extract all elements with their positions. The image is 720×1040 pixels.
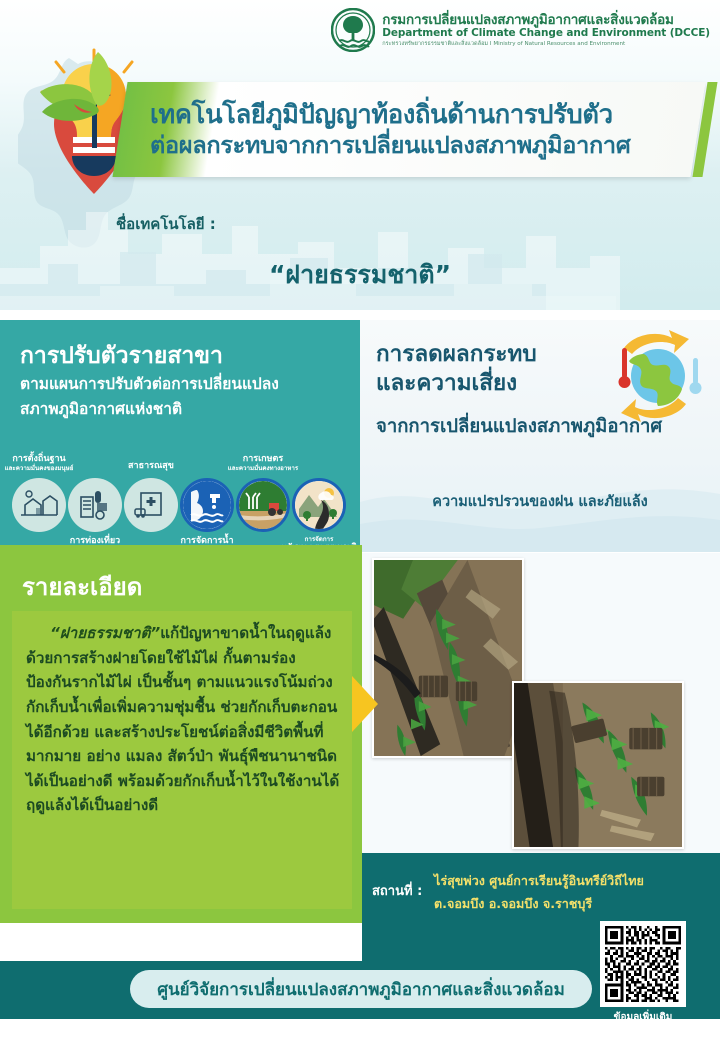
footer-organization: ศูนย์วิจัยการเปลี่ยนแปลงสภาพภูมิอากาศและ… (130, 970, 592, 1008)
mitigation-heading-line-2: และความเสี่ยง (376, 369, 537, 398)
org-ministry: กระทรวงทรัพยากรธรรมชาติและสิ่งแวดล้อม I … (382, 41, 710, 47)
sector-item-agriculture[interactable]: การเกษตร และความมั่นคงทางอาหาร (236, 478, 292, 532)
detail-body-text: แก้ปัญหาขาดน้ำในฤดูแล้ง ด้วยการสร้างฝายโ… (26, 624, 339, 814)
village-icon (12, 478, 66, 532)
sector-caption-public-health: สาธารณสุข (91, 461, 211, 472)
detail-panel: รายละเอียด “ฝายธรรมชาติ”แก้ปัญหาขาดน้ำใน… (0, 553, 362, 923)
hospital-icon (124, 478, 178, 532)
city-travel-icon (68, 478, 122, 532)
mountain-river-icon (292, 478, 346, 532)
farm-tractor-icon (236, 478, 290, 532)
location-line-1: ไร่สุขพ่วง ศูนย์การเรียนรู้อินทรีย์วิถีไ… (434, 869, 659, 892)
detail-body: “ฝายธรรมชาติ”แก้ปัญหาขาดน้ำในฤดูแล้ง ด้ว… (12, 611, 352, 909)
technology-name-value: “ฝายธรรมชาติ” (0, 255, 720, 295)
sector-item-water-management[interactable]: การจัดการน้ำ (180, 478, 236, 532)
photo-bamboo-check-dam-1 (372, 558, 524, 758)
title-line-2: ต่อผลกระทบจากการเปลี่ยนแปลงสภาพภูมิอากาศ (150, 131, 690, 160)
sector-item-settlement[interactable]: การตั้งถิ่นฐาน และความมั่นคงของมนุษย์ (12, 478, 68, 532)
title-line-1: เทคโนโลยีภูมิปัญญาท้องถิ่นด้านการปรับตัว (150, 100, 690, 131)
mitigation-heading-line-1: การลดผลกระทบ (376, 340, 537, 369)
location-line-2: ต.จอมบึง อ.จอมบึง จ.ราชบุรี (434, 892, 659, 915)
poster-root: กรมการเปลี่ยนแปลงสภาพภูมิอากาศและสิ่งแวด… (0, 0, 720, 1040)
qr-caption: ข้อมูลเพิ่มเติม (600, 1010, 686, 1025)
org-name-en: Department of Climate Change and Environ… (382, 28, 710, 40)
photo-bamboo-check-dam-2 (512, 681, 684, 849)
location-value: ไร่สุขพ่วง ศูนย์การเรียนรู้อินทรีย์วิถีไ… (434, 869, 659, 916)
detail-title: รายละเอียด (22, 567, 142, 606)
org-name-th: กรมการเปลี่ยนแปลงสภาพภูมิอากาศและสิ่งแวด… (382, 13, 710, 28)
sector-item-natural-resources[interactable]: การจัดการ ทรัพยากรธรรมชาติ (292, 478, 348, 532)
poster-header: กรมการเปลี่ยนแปลงสภาพภูมิอากาศและสิ่งแวด… (0, 0, 720, 310)
sector-caption-agriculture: การเกษตร และความมั่นคงทางอาหาร (203, 454, 323, 472)
sector-caption-settlement: การตั้งถิ่นฐาน และความมั่นคงของมนุษย์ (0, 454, 99, 472)
sector-icon-row: การตั้งถิ่นฐาน และความมั่นคงของมนุษย์ (6, 460, 358, 546)
adaptation-heading: การปรับตัวรายสาขา (20, 338, 223, 374)
qr-code-icon[interactable] (600, 921, 686, 1007)
location-label: สถานที่ : (372, 880, 422, 901)
detail-highlight: “ฝายธรรมชาติ” (50, 624, 160, 642)
mitigation-subheading: จากการเปลี่ยนแปลงสภาพภูมิอากาศ (376, 412, 706, 441)
red-thermometer (619, 348, 631, 388)
technology-name-label: ชื่อเทคโนโลยี : (116, 212, 216, 236)
mitigation-panel: การลดผลกระทบ และความเสี่ยง จากการเปลี่ยน… (360, 320, 720, 552)
poster-title: เทคโนโลยีภูมิปัญญาท้องถิ่นด้านการปรับตัว… (150, 88, 690, 172)
qr-section[interactable]: ข้อมูลเพิ่มเติม (600, 921, 686, 1026)
blue-thermometer (690, 358, 702, 394)
adaptation-panel: การปรับตัวรายสาขา ตามแผนการปรับตัวต่อการ… (0, 320, 360, 552)
adaptation-subheading: ตามแผนการปรับตัวต่อการเปลี่ยนแปลง สภาพภู… (20, 372, 350, 422)
photo-gallery (362, 553, 720, 853)
mitigation-heading: การลดผลกระทบ และความเสี่ยง (376, 340, 537, 399)
dcce-tree-logo-icon (331, 8, 375, 52)
river-tap-icon (180, 478, 234, 532)
mitigation-note: ความแปรปรวนของฝน และภัยแล้ง (360, 490, 720, 513)
sector-item-public-health[interactable]: สาธารณสุข (124, 478, 180, 532)
pointer-arrow-icon (352, 676, 378, 732)
dcce-logo: กรมการเปลี่ยนแปลงสภาพภูมิอากาศและสิ่งแวด… (331, 8, 710, 52)
sector-item-tourism[interactable]: การท่องเที่ยว (68, 478, 124, 532)
